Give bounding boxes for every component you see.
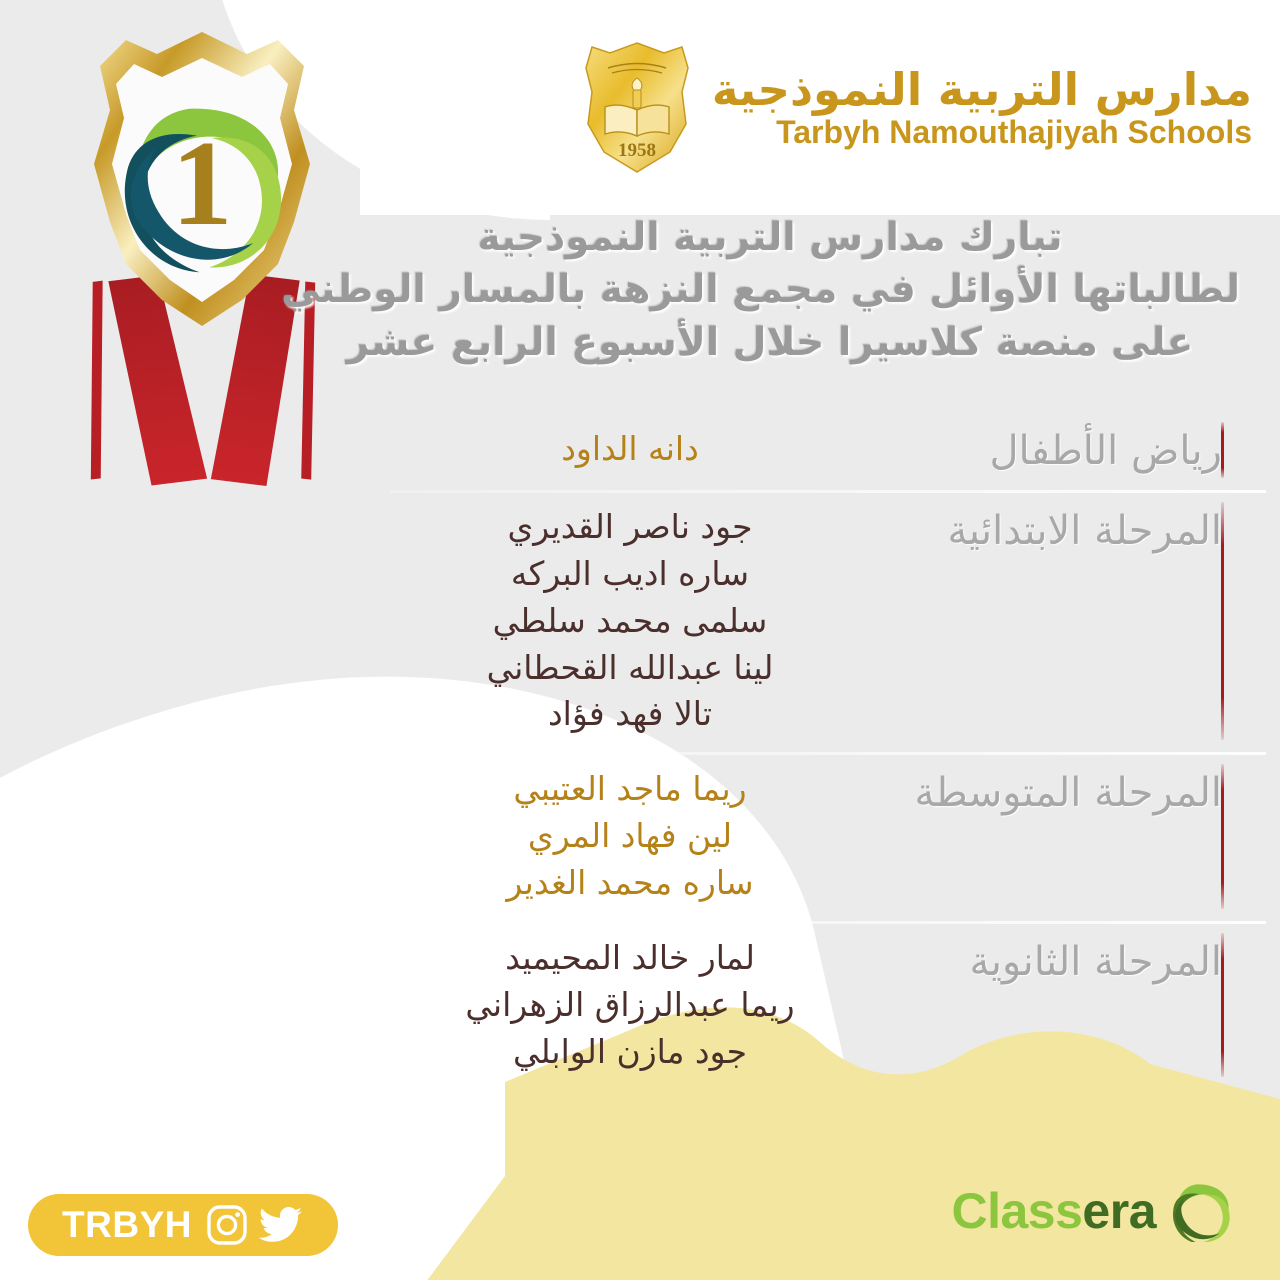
names-high: لمار خالد المحيميد ريما عبدالرزاق الزهرا… xyxy=(330,935,892,1076)
student-name: لين فهاد المري xyxy=(368,813,892,860)
student-name: دانه الداود xyxy=(368,426,892,473)
social-handle-badge[interactable]: TRBYH xyxy=(28,1194,338,1256)
student-name: لمار خالد المحيميد xyxy=(368,935,892,982)
student-name: ساره محمد الغدير xyxy=(368,860,892,907)
school-header: مدارس التربية النموذجية Tarbyh Namouthaj… xyxy=(578,40,1252,175)
section-high: المرحلة الثانوية لمار خالد المحيميد ريما… xyxy=(330,921,1280,1090)
instagram-camera-icon[interactable] xyxy=(206,1204,248,1246)
school-name-english: Tarbyh Namouthajiyah Schools xyxy=(712,115,1252,150)
section-divider-rule xyxy=(1221,422,1224,478)
student-name: ساره اديب البركه xyxy=(368,551,892,598)
section-kindergarten: رياض الأطفال دانه الداود xyxy=(330,410,1280,490)
classera-word-dark: era xyxy=(1082,1183,1156,1239)
school-name-arabic: مدارس التربية النموذجية xyxy=(712,65,1252,115)
school-crest-icon: 1958 xyxy=(578,40,696,175)
social-handle-text: TRBYH xyxy=(62,1204,192,1246)
twitter-bird-icon[interactable] xyxy=(258,1206,304,1244)
honor-roll-sections: رياض الأطفال دانه الداود المرحلة الابتدا… xyxy=(330,410,1280,1089)
student-name: سلمى محمد سلطي xyxy=(368,598,892,645)
achievement-poster: 1 مدارس التربية النموذجية Tarbyh Namouth… xyxy=(0,0,1280,1280)
headline-line-3: على منصة كلاسيرا خلال الأسبوع الرابع عشر xyxy=(300,317,1240,369)
student-name: تالا فهد فؤاد xyxy=(368,691,892,738)
section-elementary: المرحلة الابتدائية جود ناصر القديري ساره… xyxy=(330,490,1280,752)
student-name: لينا عبدالله القحطاني xyxy=(368,645,892,692)
student-name: ريما ماجد العتيبي xyxy=(368,766,892,813)
crest-year: 1958 xyxy=(618,140,656,161)
classera-word-light: Class xyxy=(951,1183,1082,1239)
stage-label-kindergarten: رياض الأطفال xyxy=(892,424,1222,476)
stage-label-high: المرحلة الثانوية xyxy=(892,935,1222,987)
names-middle: ريما ماجد العتيبي لين فهاد المري ساره مح… xyxy=(330,766,892,907)
classera-swirl-icon xyxy=(1170,1180,1232,1242)
names-elementary: جود ناصر القديري ساره اديب البركه سلمى م… xyxy=(330,504,892,738)
headline-block: تبارك مدارس التربية النموذجية لطالباتها … xyxy=(300,212,1240,369)
headline-line-1: تبارك مدارس التربية النموذجية xyxy=(300,212,1240,264)
section-divider-rule xyxy=(1221,933,1224,1078)
names-kindergarten: دانه الداود xyxy=(330,424,892,473)
student-name: جود ناصر القديري xyxy=(368,504,892,551)
section-divider-rule xyxy=(1221,764,1224,909)
stage-label-middle: المرحلة المتوسطة xyxy=(892,766,1222,818)
headline-line-2: لطالباتها الأوائل في مجمع النزهة بالمسار… xyxy=(300,264,1240,316)
student-name: جود مازن الوابلي xyxy=(368,1029,892,1076)
stage-label-elementary: المرحلة الابتدائية xyxy=(892,504,1222,556)
section-middle: المرحلة المتوسطة ريما ماجد العتيبي لين ف… xyxy=(330,752,1280,921)
student-name: ريما عبدالرزاق الزهراني xyxy=(368,982,892,1029)
rank-numeral: 1 xyxy=(172,116,233,251)
classera-wordmark: Classera xyxy=(951,1186,1156,1236)
classera-logo: Classera xyxy=(951,1180,1232,1242)
section-divider-rule xyxy=(1221,502,1224,740)
